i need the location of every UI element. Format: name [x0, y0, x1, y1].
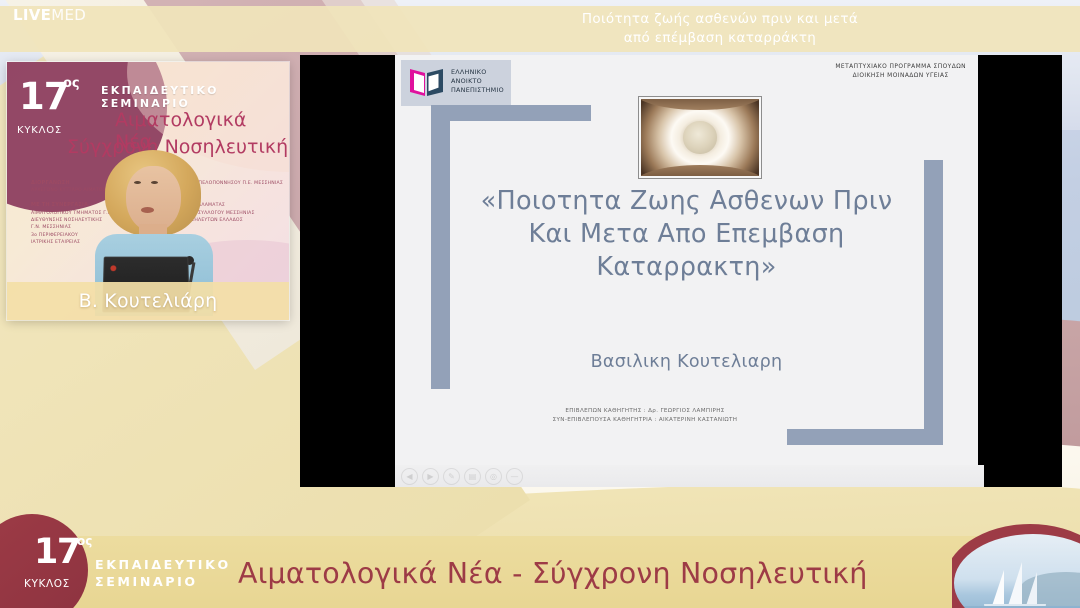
speaker-cycle-number: 17 [19, 78, 69, 115]
cataract-eye-image-inner [641, 99, 759, 176]
sailing-ship-logo [952, 518, 1080, 608]
slide-supervisor-line-2: ΣΥΝ-ΕΠΙΒΛΕΠΟΥΣΑ ΚΑΘΗΓΗΤΡΙΑ : ΑΙΚΑΤΕΡΙΝΗ … [445, 416, 845, 425]
search-icon[interactable]: ◎ [485, 468, 502, 485]
presentation-slide[interactable]: ΕΛΛΗΝΙΚΟ ΑΝΟΙΚΤΟ ΠΑΝΕΠΙΣΤΗΜΙΟ ΜΕΤΑΠΤΥΧΙΑ… [395, 55, 978, 487]
slide-title-line-2: Και Μετα Απο Επεμβαση [445, 218, 928, 251]
speaker-name: Β. Κουτελιάρη [79, 290, 218, 312]
header-title-line-2: από επέμβαση καταρράκτη [400, 29, 1040, 48]
livemed-logo-med: MED [51, 6, 86, 24]
slide-title-line-3: Καταρρακτη» [445, 251, 928, 284]
next-page-icon[interactable]: ▶ [422, 468, 439, 485]
bottom-banner: 17 ος ΚΥΚΛΟΣ ΕΚΠΑΙΔΕΥΤΙΚΟ ΣΕΜΙΝΑΡΙΟ Αιμα… [0, 536, 1080, 608]
speaker-mouth [141, 207, 154, 213]
speaker-eye-left [134, 181, 141, 184]
eye-upper-lid [641, 99, 759, 110]
bottom-seminar-line-2: ΣΕΜΙΝΑΡΙΟ [95, 573, 231, 590]
program-header: ΜΕΤΑΠΤΥΧΙΑΚΟ ΠΡΟΓΡΑΜΜΑ ΣΠΟΥΔΩΝ ΔΙΟΙΚΗΣΗ … [835, 63, 966, 82]
decor-bracket-top-left-horizontal [431, 105, 591, 121]
link-icon[interactable]: ✎ [443, 468, 460, 485]
slide-supervisors: ΕΠΙΒΛΕΠΩΝ ΚΑΘΗΓΗΤΗΣ : Δρ. ΓΕΩΡΓΙΟΣ ΛΑΜΠΙ… [445, 407, 845, 426]
open-book-icon [408, 66, 446, 99]
university-logo-line-1: ΕΛΛΗΝΙΚΟ [451, 68, 504, 77]
presentation-video-area[interactable]: ΕΛΛΗΝΙΚΟ ΑΝΟΙΚΤΟ ΠΑΝΕΠΙΣΤΗΜΙΟ ΜΕΤΑΠΤΥΧΙΑ… [300, 55, 1062, 487]
bottom-cycle-label: ΚΥΚΛΟΣ [24, 578, 70, 590]
program-header-line-2: ΔΙΟΙΚΗΣΗ ΜΟΙΝΑΔΩΝ ΥΓΕΙΑΣ [835, 72, 966, 81]
speaker-org-item: Γ.Ν. ΜΕΣΣΗΝΙΑΣ [31, 225, 71, 230]
speaker-cycle-label: ΚΥΚΛΟΣ [17, 125, 62, 136]
speaker-cycle-ordinal: ος [63, 76, 80, 91]
header-title: Ποιότητα ζωής ασθενών πριν και μετά από … [400, 10, 1040, 48]
previous-page-icon[interactable]: ◀ [401, 468, 418, 485]
university-logo-line-2: ΑΝΟΙΚΤΟ [451, 77, 504, 86]
speaker-video-panel[interactable]: 17 ος ΚΥΚΛΟΣ ΕΚΠΑΙΔΕΥΤΙΚΟ ΣΕΜΙΝΑΡΙΟ Αιμα… [7, 62, 289, 320]
slide-supervisor-line-1: ΕΠΙΒΛΕΠΩΝ ΚΑΘΗΓΗΤΗΣ : Δρ. ΓΕΩΡΓΙΟΣ ΛΑΜΠΙ… [445, 407, 845, 416]
livemed-logo-live: LIVE [13, 6, 51, 24]
slide-author: Βασιλικη Κουτελιαρη [445, 352, 928, 372]
speaker-face [126, 166, 181, 232]
pdf-toolbar[interactable]: ◀ ▶ ✎ ▤ ◎ — [395, 465, 984, 487]
cataract-eye-image [638, 96, 762, 179]
speaker-eye-right [151, 181, 158, 184]
speaker-org-item: ΙΑΤΡΙΚΗΣ ΕΤΑΙΡΕΙΑΣ [31, 240, 80, 245]
slide-title-line-1: «Ποιοτητα Ζωης Ασθενων Πριν [445, 185, 928, 218]
decor-bracket-bottom-right-horizontal [787, 429, 943, 445]
ship-sail-3 [1026, 572, 1037, 606]
speaker-org-heading: ΔΙΟΡΓΑΝΩΣΗ [31, 180, 70, 186]
save-icon[interactable]: ▤ [464, 468, 481, 485]
eye-cataract-pupil [683, 121, 716, 153]
bottom-cycle-ordinal: ος [77, 534, 92, 548]
university-logo-line-3: ΠΑΝΕΠΙΣΤΗΜΙΟ [451, 86, 504, 95]
header-title-line-1: Ποιότητα ζωής ασθενών πριν και μετά [400, 10, 1040, 29]
livemed-logo: LIVEMED [13, 6, 86, 24]
ship-sail-1 [992, 570, 1004, 606]
speaker-org-item: ΔΙΕΥΘΥΝΣΗΣ ΝΟΣΗΛΕΥΤΙΚΗΣ [31, 218, 102, 223]
program-header-line-1: ΜΕΤΑΠΤΥΧΙΑΚΟ ΠΡΟΓΡΑΜΜΑ ΣΠΟΥΔΩΝ [835, 63, 966, 72]
speaker-seminar-label: ΕΚΠΑΙΔΕΥΤΙΚΟ ΣΕΜΙΝΑΡΙΟ [101, 84, 289, 110]
ship-sail-2 [1008, 562, 1022, 606]
zoom-out-icon[interactable]: — [506, 468, 523, 485]
bottom-seminar-label: ΕΚΠΑΙΔΕΥΤΙΚΟ ΣΕΜΙΝΑΡΙΟ [95, 556, 231, 590]
bottom-main-title: Αιματολογικά Νέα - Σύγχρονη Νοσηλευτική [238, 557, 868, 590]
speaker-org-heading-2: ΜΕ ΤΗ ΣΥΝΕΡΓΑΣΙΑ [31, 202, 88, 208]
laptop-logo-dot [110, 265, 116, 271]
speaker-name-bar: Β. Κουτελιάρη [7, 282, 289, 320]
slide-title: «Ποιοτητα Ζωης Ασθενων Πριν Και Μετα Απο… [445, 185, 928, 284]
broadcast-stage: LIVEMED Ποιότητα ζωής ασθενών πριν και μ… [0, 0, 1080, 608]
bottom-seminar-line-1: ΕΚΠΑΙΔΕΥΤΙΚΟ [95, 556, 231, 573]
eye-lower-lid [641, 165, 759, 176]
bottom-cycle-number: 17 [34, 535, 80, 570]
speaker-org-item: 3ο ΠΕΡΙΦΕΡΕΙΑΚΟΥ [31, 233, 78, 238]
university-logo: ΕΛΛΗΝΙΚΟ ΑΝΟΙΚΤΟ ΠΑΝΕΠΙΣΤΗΜΙΟ [401, 60, 511, 106]
university-logo-text: ΕΛΛΗΝΙΚΟ ΑΝΟΙΚΤΟ ΠΑΝΕΠΙΣΤΗΜΙΟ [451, 68, 504, 96]
